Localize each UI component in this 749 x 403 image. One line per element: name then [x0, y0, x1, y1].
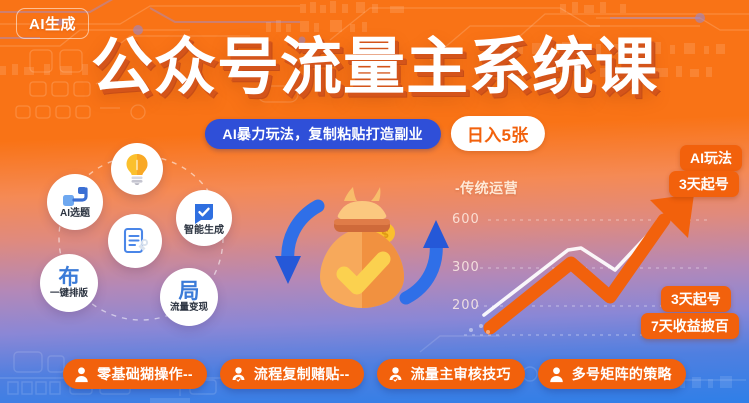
badge-seven-day: 7天收益披百 — [641, 313, 739, 339]
arrow-up-right-icon — [406, 220, 449, 298]
flow-diagram: AI选题 智能生成 布 一键排版 局 流量变现 — [24, 146, 274, 326]
flow-node-ai-topic[interactable]: AI选题 — [47, 174, 103, 230]
ai-generated-badge: AI生成 — [16, 8, 89, 39]
badge-three-day-top: 3天起号 — [669, 171, 739, 197]
feature-item-process-copy[interactable]: 流程复制赌贴-- — [220, 359, 364, 389]
document-edit-icon — [120, 226, 150, 256]
person-check-icon — [230, 366, 247, 383]
flow-node-cash[interactable]: 局 流量变现 — [160, 268, 218, 326]
money-bag-illustration: $ — [272, 182, 452, 322]
feature-item-audit-tips[interactable]: 流量主审核技巧 — [377, 359, 525, 389]
lightbulb-icon — [122, 153, 152, 185]
flow-node-layout[interactable]: 布 一键排版 — [40, 254, 98, 312]
arrow-down-left-icon — [275, 206, 318, 284]
highlight-pill: 日入5张 — [451, 116, 545, 151]
feature-item-zero-basis[interactable]: 零基础猢操作-- — [63, 359, 207, 389]
flow-node-idea[interactable] — [111, 143, 163, 195]
page-title: 公众号流量主系统课 — [91, 36, 658, 98]
chart-ytick: 300 — [452, 260, 480, 275]
person-icon — [548, 366, 565, 383]
bottom-feature-bar: 零基础猢操作-- 流程复制赌贴-- 流量主审核技巧 — [0, 359, 749, 389]
feature-label: 零基础猢操作-- — [97, 364, 193, 384]
feature-label: 多号矩阵的策略 — [572, 364, 672, 384]
subtitle-row: AI暴力玩法，复制粘贴打造副业 日入5张 — [204, 116, 544, 151]
subtitle-pill: AI暴力玩法，复制粘贴打造副业 — [204, 119, 441, 149]
chart-legend: -传统运营 — [455, 178, 518, 198]
poster-canvas: AI生成 公众号流量主系统课 AI暴力玩法，复制粘贴打造副业 日入5张 — [0, 0, 749, 403]
flow-node-smart[interactable]: 智能生成 — [176, 190, 232, 246]
person-check-icon — [387, 366, 404, 383]
flow-node-label: 一键排版 — [50, 289, 88, 299]
flow-node-big-char: 局 — [179, 281, 200, 302]
flow-node-label: 流量变现 — [170, 303, 208, 313]
feature-label: 流量主审核技巧 — [411, 364, 511, 384]
chart-ytick: 200 — [452, 298, 480, 313]
flow-node-label: AI选题 — [60, 208, 90, 219]
badge-three-day-bottom: 3天起号 — [661, 286, 731, 312]
flow-node-label: 智能生成 — [184, 225, 224, 236]
flow-node-big-char: 布 — [59, 267, 80, 288]
flow-node-center[interactable] — [108, 214, 162, 268]
feature-item-matrix-strategy[interactable]: 多号矩阵的策略 — [538, 359, 686, 389]
ai-topic-icon — [62, 186, 88, 208]
badge-ai-play: AI玩法 — [680, 145, 742, 171]
chart-series-ai — [490, 220, 664, 328]
smart-check-icon — [192, 201, 216, 225]
feature-label: 流程复制赌贴-- — [254, 364, 350, 384]
chart-ytick: 600 — [452, 212, 480, 227]
person-icon — [73, 366, 90, 383]
